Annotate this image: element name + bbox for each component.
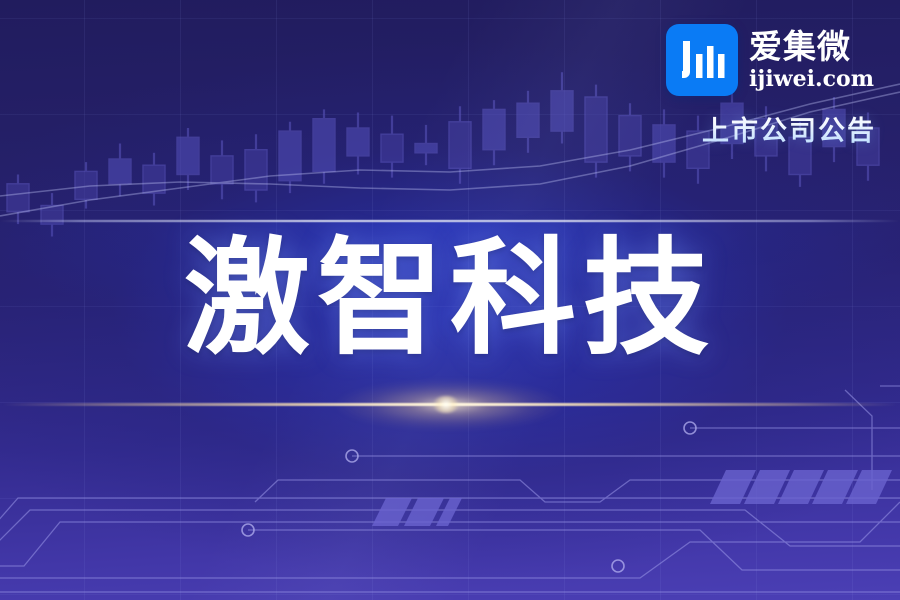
bar-chart-logo-icon bbox=[666, 24, 738, 96]
brand-domain: ijiwei.com bbox=[749, 68, 874, 90]
brand-text-group: 爱集微 ijiwei.com bbox=[749, 30, 874, 90]
title-band-rule bbox=[0, 220, 900, 222]
category-label: 上市公司公告 bbox=[666, 109, 876, 148]
brand-logo-row: 爱集微 ijiwei.com bbox=[666, 24, 876, 96]
brand-block: 爱集微 ijiwei.com 上市公司公告 bbox=[666, 24, 876, 148]
light-flare-core bbox=[432, 396, 460, 413]
brand-name-cn: 爱集微 bbox=[749, 30, 874, 63]
announcement-banner: 激智科技 爱集微 ijiwei.com 上市公司公告 bbox=[0, 0, 900, 600]
page-title: 激智科技 bbox=[0, 236, 900, 362]
company-title-text: 激智科技 bbox=[184, 236, 716, 362]
